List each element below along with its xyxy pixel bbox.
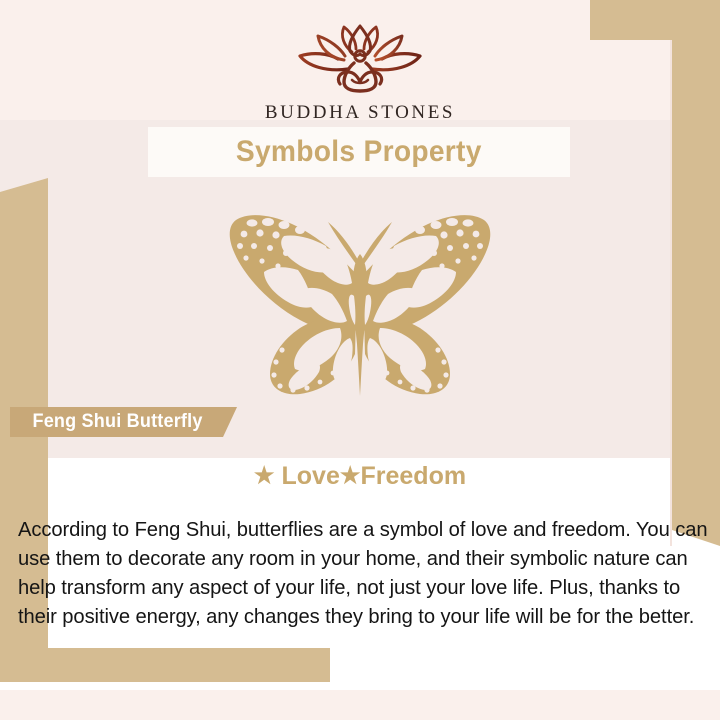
butterfly-illustration <box>0 196 720 406</box>
subheading-word-freedom: Freedom <box>360 462 466 490</box>
lotus-meditation-icon <box>274 22 446 96</box>
promo-graphic: BUDDHA STONES Symbols Property <box>0 0 720 720</box>
brand-name: BUDDHA STONES <box>0 102 720 124</box>
page-title: Symbols Property <box>236 135 482 169</box>
star-icon-mid: ★ <box>340 462 361 488</box>
subheading-word-love: Love <box>282 462 340 490</box>
description-paragraph: According to Feng Shui, butterflies are … <box>18 515 708 631</box>
section-title-banner: Symbols Property <box>148 127 570 177</box>
subheading: ★ Love★Freedom <box>0 462 720 491</box>
brand-lockup: BUDDHA STONES <box>0 22 720 124</box>
background-footer-strip <box>0 690 720 720</box>
butterfly-icon <box>200 198 520 404</box>
tag-label: Feng Shui Butterfly <box>32 411 202 433</box>
star-icon-left: ★ <box>254 462 275 488</box>
feng-shui-butterfly-tag: Feng Shui Butterfly <box>10 407 237 437</box>
frame-bottom-left <box>0 648 330 682</box>
